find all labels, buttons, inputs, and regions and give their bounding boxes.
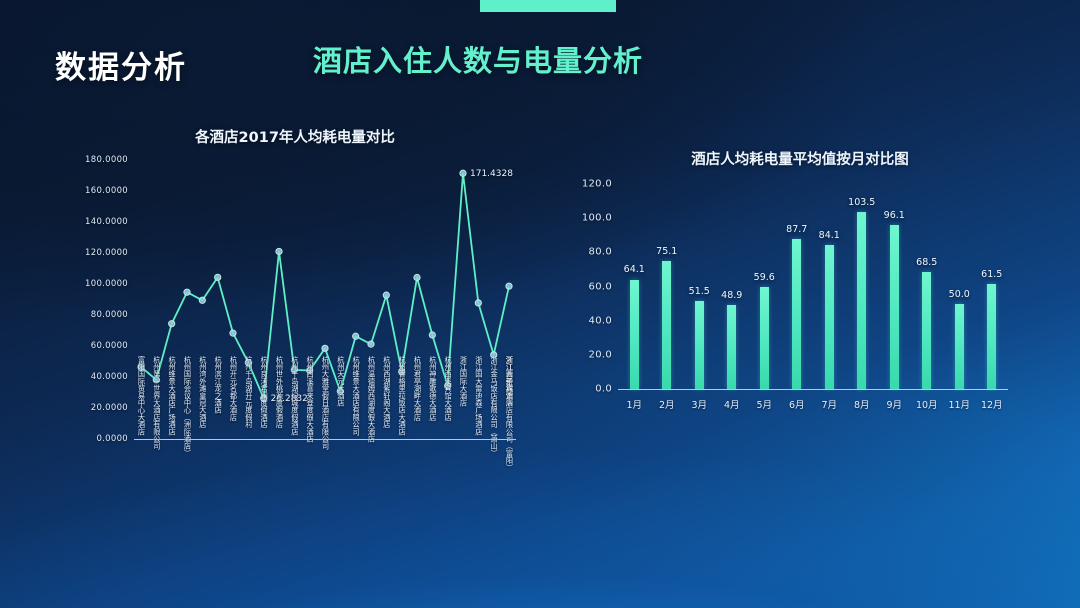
line-chart-data-point[interactable]: [184, 289, 190, 295]
line-chart-category-label: 浙江金马饭店有限公司（萧山）: [490, 356, 498, 457]
bar-chart-axes: 0.020.040.060.080.0100.0120.0 64.11月75.1…: [618, 184, 1008, 400]
line-chart-category-label: 杭州维景大酒店广场酒店: [168, 356, 176, 435]
bar-chart-value-label: 75.1: [656, 246, 677, 257]
bar-chart-bar[interactable]: [955, 304, 964, 389]
line-chart-category-label: 杭州滨江龙之酒店: [214, 356, 222, 414]
bar-chart-value-label: 87.7: [786, 224, 807, 235]
bar-chart-y-tick: 80.0: [589, 247, 612, 258]
bar-chart-bar[interactable]: [922, 272, 931, 389]
bar-chart-value-label: 68.5: [916, 257, 937, 268]
bar-chart-category-label: 11月: [948, 397, 970, 411]
bar-chart-category-label: 12月: [981, 397, 1003, 411]
line-chart-category-label: 杭州君亭湖畔大酒店: [414, 356, 422, 421]
line-chart-category-label: 杭州第一世界大酒店有限公司: [153, 356, 161, 450]
slide-root: 数据分析 酒店入住人数与电量分析 各酒店2017年人均耗电量对比 0.00002…: [0, 0, 1080, 608]
line-chart-title: 各酒店2017年人均耗电量对比: [60, 126, 530, 147]
line-chart-data-point[interactable]: [353, 333, 359, 339]
line-chart-y-tick: 120.0000: [85, 248, 128, 258]
line-chart-data-point[interactable]: [383, 292, 389, 298]
bar-chart-category-label: 8月: [854, 397, 870, 411]
line-chart-data-point[interactable]: [199, 297, 205, 303]
line-chart-data-point[interactable]: [475, 300, 481, 306]
bar-chart-y-tick: 20.0: [589, 349, 612, 360]
line-chart-category-label: 杭州维景大酒店有限公司: [352, 356, 360, 435]
bar-chart-category-label: 10月: [916, 397, 938, 411]
line-chart-y-tick: 180.0000: [85, 155, 128, 165]
line-chart-data-point[interactable]: [368, 341, 374, 347]
bar-chart-bar[interactable]: [857, 212, 866, 389]
bar-chart-value-label: 59.6: [754, 272, 775, 283]
bar-chart-category-label: 2月: [659, 397, 675, 411]
bar-chart-bar[interactable]: [890, 225, 899, 389]
line-chart-category-label: 杭州千岛湖绿城度假酒店: [291, 356, 299, 435]
line-chart-category-labels: 富阳国际贸易中心大酒店杭州第一世界大酒店有限公司杭州维景大酒店广场酒店杭州国际会…: [60, 356, 530, 496]
bar-chart-y-tick: 100.0: [582, 213, 612, 224]
line-chart-category-label: 浙江西子宾馆: [506, 356, 514, 399]
bar-chart-category-label: 4月: [724, 397, 740, 411]
line-chart-category-label: 杭州大雅堂假日酒店有限公司: [322, 356, 330, 450]
line-chart-data-point[interactable]: [276, 248, 282, 254]
line-chart-category-label: 杭州良渚君澜度假酒店: [260, 356, 268, 428]
bar-chart-bar[interactable]: [760, 287, 769, 389]
line-chart-data-point[interactable]: [215, 274, 221, 280]
bar-chart-bar[interactable]: [662, 261, 671, 389]
bar-chart-category-label: 5月: [756, 397, 772, 411]
section-heading: 数据分析: [55, 42, 187, 87]
line-chart-data-point[interactable]: [429, 332, 435, 338]
line-chart-hotel-per-capita: 各酒店2017年人均耗电量对比 0.000020.000040.000060.0…: [60, 126, 530, 366]
line-chart-y-tick: 140.0000: [85, 217, 128, 227]
bar-chart-bar[interactable]: [792, 239, 801, 389]
line-chart-category-label: 杭州西溪宾馆大酒店: [444, 356, 452, 421]
line-chart-category-label: 杭州千岛湖开元度假村: [245, 356, 253, 428]
bar-chart-bar[interactable]: [987, 284, 996, 389]
bar-chart-category-label: 6月: [789, 397, 805, 411]
line-chart-category-label: 杭州开元名都大酒店: [230, 356, 238, 421]
bar-chart-category-label: 1月: [626, 397, 642, 411]
bar-chart-monthly-average: 酒店人均耗电量平均值按月对比图 0.020.040.060.080.0100.0…: [560, 148, 1030, 420]
bar-chart-bar[interactable]: [695, 301, 704, 389]
bar-chart-value-label: 61.5: [981, 269, 1002, 280]
line-chart-y-tick: 80.0000: [91, 310, 128, 320]
bar-chart-y-tick: 120.0: [582, 179, 612, 190]
page-title: 酒店入住人数与电量分析: [313, 38, 643, 80]
line-chart-data-point[interactable]: [230, 330, 236, 336]
line-chart-category-label: 杭州天元大酒店: [337, 356, 345, 406]
line-chart-category-label: 浙江国际大酒店: [460, 356, 468, 406]
bar-chart-y-tick: 40.0: [589, 315, 612, 326]
bar-chart-value-label: 48.9: [721, 290, 742, 301]
line-chart-category-label: 杭州西湖紫轩阁大酒店: [383, 356, 391, 428]
bar-chart-title: 酒店人均耗电量平均值按月对比图: [600, 148, 1000, 169]
line-chart-data-point[interactable]: [414, 274, 420, 280]
line-chart-category-label: 杭州西溪喜来登度假大酒店: [306, 356, 314, 442]
line-chart-category-label: 杭州香格里拉饭店大酒店: [398, 356, 406, 435]
bar-chart-y-tick: 60.0: [589, 281, 612, 292]
line-chart-data-point[interactable]: [169, 321, 175, 327]
line-chart-point-label: 171.4328: [470, 169, 513, 179]
bar-chart-y-tick: 0.0: [595, 384, 612, 395]
bar-chart-value-label: 64.1: [624, 264, 645, 275]
line-chart-y-tick: 100.0000: [85, 279, 128, 289]
bar-chart-value-label: 103.5: [848, 197, 875, 208]
bar-chart-value-label: 51.5: [689, 286, 710, 297]
top-accent-bar: [480, 0, 616, 12]
line-chart-y-tick: 160.0000: [85, 186, 128, 196]
bar-chart-bar[interactable]: [727, 305, 736, 389]
bar-chart-value-label: 84.1: [819, 230, 840, 241]
line-chart-category-label: 杭州国际会议中心（洲际酒店）: [184, 356, 192, 457]
line-chart-category-label: 浙江国大雷迪森广场酒店: [475, 356, 483, 435]
bar-chart-bar[interactable]: [825, 245, 834, 389]
line-chart-data-point[interactable]: [460, 170, 466, 176]
bar-chart-plot: 64.11月75.12月51.53月48.94月59.65月87.76月84.1…: [618, 184, 1008, 389]
bar-chart-bar[interactable]: [630, 280, 639, 390]
bar-chart-y-axis: 0.020.040.060.080.0100.0120.0: [560, 184, 612, 389]
line-chart-category-label: 杭州世外桃源度假酒店: [276, 356, 284, 428]
bar-chart-category-label: 3月: [691, 397, 707, 411]
line-chart-data-point[interactable]: [506, 283, 512, 289]
bar-chart-category-label: 7月: [821, 397, 837, 411]
bar-chart-x-axis-line: [618, 389, 1008, 390]
bar-chart-value-label: 96.1: [884, 210, 905, 221]
line-chart-category-label: 富阳国际贸易中心大酒店: [138, 356, 146, 435]
line-chart-category-label: 杭州神雕歌德大酒店: [429, 356, 437, 421]
bar-chart-value-label: 50.0: [949, 289, 970, 300]
bar-chart-category-label: 9月: [886, 397, 902, 411]
line-chart-category-label: 杭州湾外滩皇冠大酒店: [199, 356, 207, 428]
line-chart-data-point[interactable]: [322, 345, 328, 351]
line-chart-category-label: 杭州温德姆西湖度假大酒店: [368, 356, 376, 442]
line-chart-y-tick: 60.0000: [91, 341, 128, 351]
